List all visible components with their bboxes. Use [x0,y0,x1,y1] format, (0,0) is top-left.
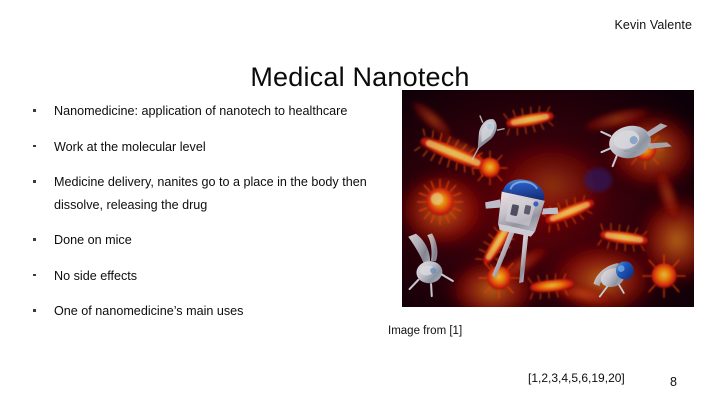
list-item-label: One of nanomedicine’s main uses [54,304,243,318]
list-item: Done on mice [28,229,368,252]
list-item: One of nanomedicine’s main uses [28,300,368,323]
list-item-label: Nanomedicine: application of nanotech to… [54,104,347,118]
bullet-list: Nanomedicine: application of nanotech to… [28,100,368,336]
list-item-label: Medicine delivery, nanites go to a place… [54,175,367,212]
bullet-dot-icon [33,145,36,148]
nanobot-illustration [402,90,694,307]
list-item: Medicine delivery, nanites go to a place… [28,171,368,216]
bullet-dot-icon [33,274,36,277]
page-title: Medical Nanotech [0,62,720,93]
list-item: Work at the molecular level [28,136,368,159]
list-item: Nanomedicine: application of nanotech to… [28,100,368,123]
list-item-label: No side effects [54,269,137,283]
bullet-dot-icon [33,309,36,312]
page-number: 8 [670,375,677,389]
bullet-dot-icon [33,180,36,183]
bullet-dot-icon [33,238,36,241]
list-item-label: Work at the molecular level [54,140,206,154]
list-item: No side effects [28,265,368,288]
slide: Kevin Valente Medical Nanotech Nanomedic… [0,0,720,405]
list-item-label: Done on mice [54,233,132,247]
author-name: Kevin Valente [614,18,692,32]
references-list: [1,2,3,4,5,6,19,20] [528,371,625,385]
bullet-dot-icon [33,109,36,112]
nanobot-illustration-svg [402,90,694,307]
image-caption: Image from [1] [388,325,462,337]
